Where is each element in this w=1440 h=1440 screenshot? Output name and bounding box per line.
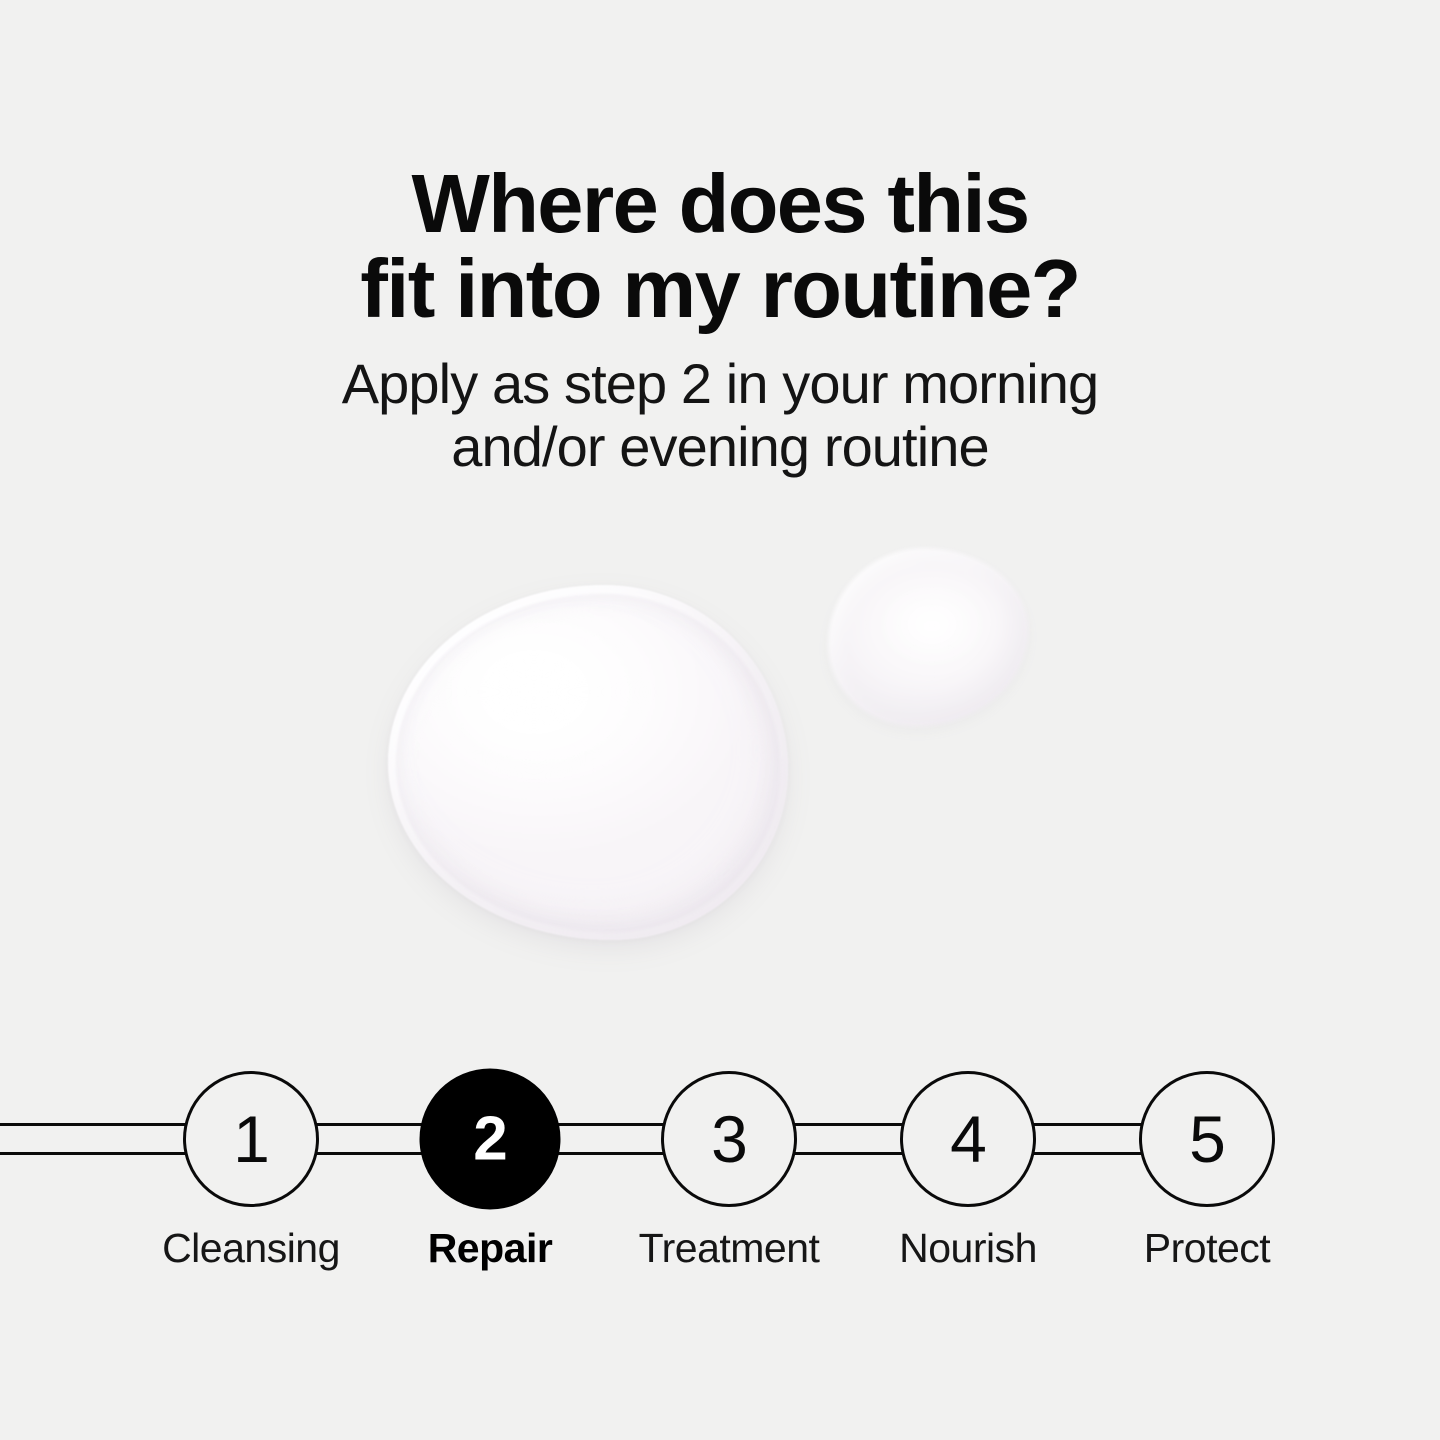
cream-swatch-image [0,520,1440,1020]
page-title: Where does this fit into my routine? [0,162,1440,331]
small-cream-dollop-highlight [872,582,992,676]
step-label-cleansing[interactable]: Cleansing [162,1228,340,1269]
step-label-row: CleansingRepairTreatmentNourishProtect [0,1060,1440,1310]
routine-infographic: Where does this fit into my routine? App… [0,0,1440,1440]
page-subtitle: Apply as step 2 in your morning and/or e… [0,331,1440,478]
step-label-protect[interactable]: Protect [1144,1228,1270,1269]
routine-step-indicator: 12345 CleansingRepairTreatmentNourishPro… [0,1060,1440,1310]
large-cream-swatch-highlight [424,616,674,806]
step-label-repair[interactable]: Repair [428,1228,553,1269]
step-label-treatment[interactable]: Treatment [639,1228,820,1269]
header: Where does this fit into my routine? App… [0,0,1440,479]
step-label-nourish[interactable]: Nourish [899,1228,1037,1269]
